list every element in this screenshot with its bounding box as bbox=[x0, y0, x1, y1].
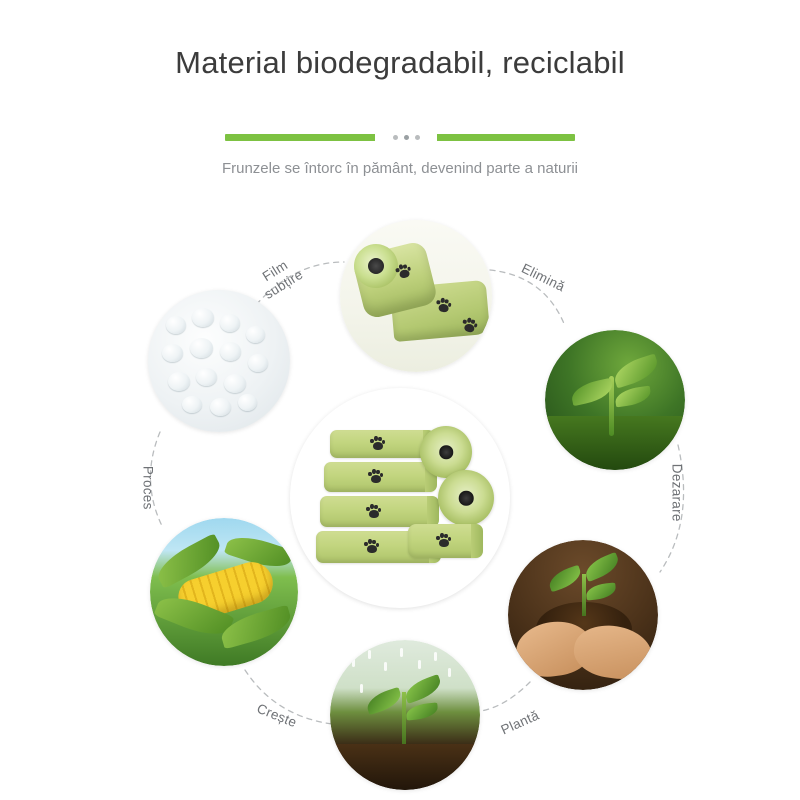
dot-icon-3 bbox=[415, 135, 420, 140]
node-seedling-watering[interactable] bbox=[330, 640, 480, 790]
node-elimina[interactable] bbox=[545, 330, 685, 470]
bag-roll-photo-icon bbox=[340, 220, 492, 372]
dot-icon-1 bbox=[393, 135, 398, 140]
node-label-dezarare: Dezarare bbox=[669, 464, 685, 522]
node-label-proces: Proces bbox=[140, 466, 156, 510]
hands-holding-soil-photo-icon bbox=[508, 540, 658, 690]
node-proces[interactable] bbox=[148, 290, 290, 432]
sprout-on-moss-photo-icon bbox=[545, 330, 685, 470]
center-product-node bbox=[290, 388, 510, 608]
plastic-pellets-photo-icon bbox=[148, 290, 290, 432]
divider-dots bbox=[375, 132, 437, 143]
page-subtitle: Frunzele se întorc în pământ, devenind p… bbox=[0, 160, 800, 177]
page-header: Material biodegradabil, reciclabil Frunz… bbox=[0, 0, 800, 200]
seedling-watering-photo-icon bbox=[330, 640, 480, 790]
title-divider bbox=[0, 130, 800, 144]
node-creste[interactable] bbox=[150, 518, 298, 666]
node-planta[interactable] bbox=[508, 540, 658, 690]
bag-rolls-stack-icon bbox=[290, 388, 510, 608]
dot-icon-2 bbox=[404, 135, 409, 140]
page-title: Material biodegradabil, reciclabil bbox=[0, 45, 800, 81]
node-film-subtire[interactable] bbox=[340, 220, 492, 372]
lifecycle-diagram: Film subțire Elimină Dezarare Plantă bbox=[0, 200, 800, 800]
corn-cob-photo-icon bbox=[150, 518, 298, 666]
